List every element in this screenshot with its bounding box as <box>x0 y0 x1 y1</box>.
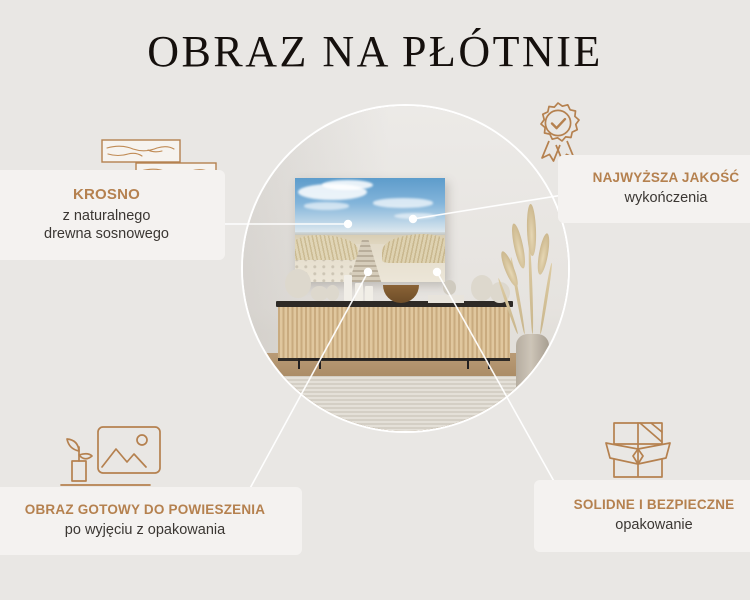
feature-line1: po wyjęciu z opakowania <box>65 521 225 540</box>
hero-circle-image <box>243 106 568 431</box>
candle <box>344 275 352 301</box>
feature-line1: wykończenia <box>624 189 707 208</box>
feature-heading: NAJWYŻSZA JAKOŚĆ <box>593 170 740 187</box>
feature-card-gotowy[interactable]: OBRAZ GOTOWY DO POWIESZENIA po wyjęciu z… <box>0 487 302 555</box>
feature-line1: z naturalnego <box>63 207 151 226</box>
sideboard-legs <box>290 358 499 370</box>
feature-heading: KROSNO <box>73 186 140 205</box>
feature-card-opakowanie[interactable]: SOLIDNE I BEZPIECZNE opakowanie <box>534 480 750 552</box>
candle <box>365 286 373 301</box>
feature-line1: opakowanie <box>615 516 692 535</box>
floor-vase <box>516 334 549 406</box>
books-stack <box>428 295 464 303</box>
feature-card-krosno[interactable]: KROSNO z naturalnego drewna sosnowego <box>0 170 225 260</box>
cloud <box>322 180 373 190</box>
feature-card-jakosc[interactable]: NAJWYŻSZA JAKOŚĆ wykończenia <box>558 155 750 223</box>
cloud <box>304 202 349 209</box>
canvas-artwork <box>295 178 445 282</box>
package-box-icon <box>602 418 674 482</box>
ceramic-bowl <box>326 285 339 301</box>
infographic-canvas: OBRAZ NA PŁÓTNIE <box>0 0 750 600</box>
sideboard-slats <box>278 307 511 361</box>
sideboard <box>276 301 513 369</box>
page-title: OBRAZ NA PŁÓTNIE <box>0 26 750 77</box>
candle <box>355 283 363 301</box>
stone-sphere <box>443 280 456 295</box>
leg-crossbar <box>298 358 490 360</box>
feature-heading: OBRAZ GOTOWY DO POWIESZENIA <box>25 502 265 519</box>
ceramic-vase <box>285 269 311 298</box>
cloud <box>394 213 436 219</box>
room-scene <box>243 106 568 431</box>
cloud <box>373 198 433 207</box>
framed-picture-plant-icon <box>58 423 166 495</box>
feature-line2: drewna sosnowego <box>44 225 169 244</box>
feature-heading: SOLIDNE I BEZPIECZNE <box>574 497 735 514</box>
